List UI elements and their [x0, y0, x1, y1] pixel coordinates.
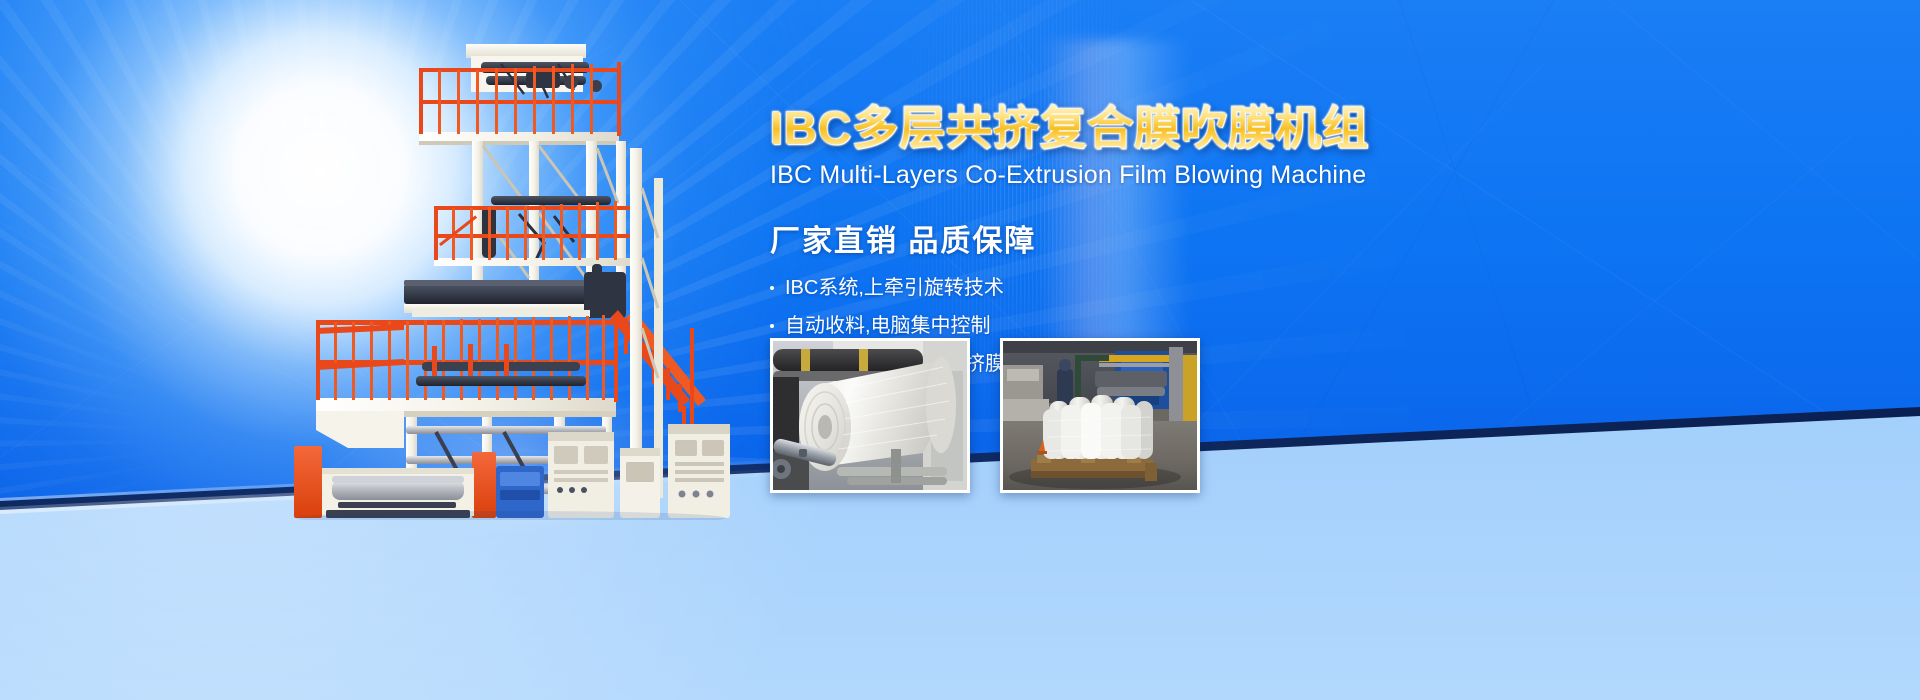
feature-text: IBC系统,上牵引旋转技术 — [785, 278, 1004, 298]
product-banner: IBC多层共挤复合膜吹膜机组 IBC Multi-Layers Co-Extru… — [0, 0, 1920, 700]
product-photo-gallery — [770, 338, 1200, 493]
bullet-dot-icon — [770, 324, 774, 328]
page-subtitle: IBC Multi-Layers Co-Extrusion Film Blowi… — [770, 161, 1470, 190]
feature-text: 自动收料,电脑集中控制 — [785, 316, 991, 336]
tagline: 厂家直销 品质保障 — [770, 216, 1470, 260]
bullet-dot-icon — [770, 286, 774, 290]
list-item: IBC系统,上牵引旋转技术 — [770, 278, 1470, 298]
machine-illustration — [286, 28, 736, 520]
product-photo-film-rolls-pallet[interactable] — [1000, 338, 1200, 493]
list-item: 自动收料,电脑集中控制 — [770, 316, 1470, 336]
page-title: IBC多层共挤复合膜吹膜机组 — [770, 104, 1470, 152]
product-photo-film-roll[interactable] — [770, 338, 970, 493]
